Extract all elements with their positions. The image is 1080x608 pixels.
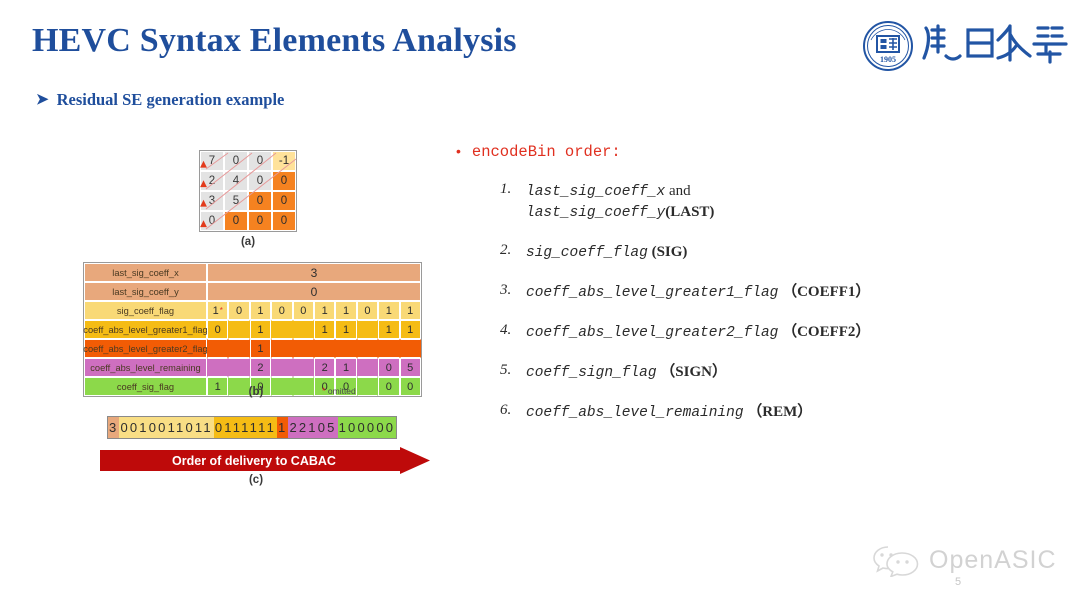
table-cell: 1 <box>250 339 271 358</box>
table-cell: 0 <box>207 320 228 339</box>
list-item: 1.last_sig_coeff_x andlast_sig_coeff_y(L… <box>500 181 1056 223</box>
matrix-cell: 0 <box>272 171 296 191</box>
syntax-element-name: coeff_abs_level_remaining <box>526 405 744 421</box>
matrix-row: 2400 <box>200 171 296 191</box>
bitstream-segment: 3 <box>108 417 119 438</box>
table-cell <box>293 339 314 358</box>
table-row: coeff_abs_level_remaining22105 <box>84 358 421 377</box>
table-row-cells: 0 <box>207 282 421 301</box>
list-item-number: 4. <box>500 322 513 343</box>
arrow-bullet-icon: ➤ <box>36 93 49 108</box>
bitstream-segment: 22105 <box>288 417 337 438</box>
table-row-cells: 3 <box>207 263 421 282</box>
syntax-element-name: （SIGN） <box>657 364 727 380</box>
matrix-cell: 4 <box>224 171 248 191</box>
fudan-seal-icon: 1905 <box>862 20 914 72</box>
list-item-text: sig_coeff_flag (SIG) <box>526 242 687 263</box>
cabac-arrow-label: Order of delivery to CABAC <box>100 447 430 474</box>
table-cell: 0 <box>271 301 292 320</box>
syntax-element-name: sig_coeff_flag <box>526 245 648 261</box>
table-span-cell: 3 <box>207 263 421 282</box>
table-cell <box>228 358 249 377</box>
matrix-row: 3500 <box>200 191 296 211</box>
table-cell: 2 <box>314 358 335 377</box>
matrix-cell: 0 <box>224 151 248 171</box>
table-row: coeff_abs_level_greater2_flag1 <box>84 339 421 358</box>
syntax-element-name: coeff_sign_flag <box>526 365 657 381</box>
table-cell <box>335 339 356 358</box>
list-item-number: 6. <box>500 402 513 423</box>
omitted-star-marker: * <box>220 306 223 315</box>
table-cell <box>271 320 292 339</box>
matrix-cell: 0 <box>272 191 296 211</box>
syntax-element-name: （REM） <box>744 404 813 420</box>
table-row-cells: 011111 <box>207 320 421 339</box>
table-cell: 1 <box>400 301 421 320</box>
slide: HEVC Syntax Elements Analysis ➤ Residual… <box>0 0 1080 608</box>
syntax-element-name: （COEFF1） <box>778 284 870 300</box>
matrix-caption: (a) <box>199 236 297 248</box>
table-row-label: last_sig_coeff_x <box>84 263 207 282</box>
list-item-number: 2. <box>500 242 513 263</box>
table-span-cell: 0 <box>207 282 421 301</box>
bitstream-strip: 300100110110111111122105100000 <box>107 416 397 439</box>
matrix-cell: 0 <box>224 211 248 231</box>
table-cell <box>228 339 249 358</box>
omitted-note: * omitted <box>322 386 356 396</box>
list-item-text: coeff_sign_flag （SIGN） <box>526 362 727 383</box>
openasic-logo: OpenASIC <box>872 543 1057 577</box>
list-item-text: coeff_abs_level_greater1_flag （COEFF1） <box>526 282 870 303</box>
table-cell <box>207 358 228 377</box>
table-cell: 1 <box>335 301 356 320</box>
table-cell <box>228 320 249 339</box>
list-item-text: last_sig_coeff_x andlast_sig_coeff_y(LAS… <box>526 181 714 223</box>
syntax-element-name: coeff_abs_level_greater1_flag <box>526 285 778 301</box>
matrix-cell: 0 <box>248 211 272 231</box>
table-row: last_sig_coeff_x3 <box>84 263 421 282</box>
bitstream-segment: 0010011011 <box>119 417 213 438</box>
table-cell <box>314 339 335 358</box>
table-cell: 0 <box>378 358 399 377</box>
table-caption: (b) <box>83 386 429 398</box>
matrix-row: 700-1 <box>200 151 296 171</box>
table-cell <box>271 358 292 377</box>
table-cell <box>357 339 378 358</box>
list-item: 4.coeff_abs_level_greater2_flag （COEFF2） <box>500 322 1056 343</box>
table-cell <box>293 358 314 377</box>
coefficient-matrix-block: 700-1240035000000 (a) <box>199 150 297 248</box>
table-cell: 1 <box>250 301 271 320</box>
matrix-cell: -1 <box>272 151 296 171</box>
table-row-label: sig_coeff_flag <box>84 301 207 320</box>
table-row-label: last_sig_coeff_y <box>84 282 207 301</box>
syntax-element-name: (SIG) <box>648 244 688 260</box>
table-cell <box>207 339 228 358</box>
table-cell: 1 <box>400 320 421 339</box>
fudan-wordmark-icon <box>920 16 1070 72</box>
section-subheading-label: Residual SE generation example <box>57 90 285 110</box>
syntax-element-name: last_sig_coeff_y <box>526 205 665 221</box>
syntax-element-name: (LAST) <box>665 204 714 220</box>
matrix-cell: 0 <box>272 211 296 231</box>
scan-order-arrowheads-icon <box>199 151 209 231</box>
list-item-text: coeff_abs_level_greater2_flag （COEFF2） <box>526 322 870 343</box>
syntax-element-name: （COEFF2） <box>778 324 870 340</box>
bitstream-segment: 1 <box>277 417 288 438</box>
syntax-element-name: coeff_abs_level_greater2_flag <box>526 325 778 341</box>
encodebin-order-panel: • encodeBin order: 1.last_sig_coeff_x an… <box>456 143 1056 442</box>
encodebin-bullet: • encodeBin order: <box>456 143 1056 161</box>
fudan-university-logo: 1905 <box>862 18 1070 74</box>
list-item: 5.coeff_sign_flag （SIGN） <box>500 362 1056 383</box>
table-cell <box>357 320 378 339</box>
table-row-label: coeff_abs_level_remaining <box>84 358 207 377</box>
matrix-cell: 0 <box>248 171 272 191</box>
table-cell: 1 <box>250 320 271 339</box>
table-row-cells: 1 <box>207 339 421 358</box>
table-cell: 1* <box>207 301 228 320</box>
table-cell <box>293 320 314 339</box>
bullet-dot-icon: • <box>456 144 461 158</box>
list-item-text: coeff_abs_level_remaining （REM） <box>526 402 812 423</box>
openasic-wordmark: OpenASIC <box>929 546 1057 575</box>
page-title: HEVC Syntax Elements Analysis <box>32 22 517 60</box>
table-cell: 1 <box>314 301 335 320</box>
matrix-cell: 5 <box>224 191 248 211</box>
list-item-number: 5. <box>500 362 513 383</box>
bitstream-segment: 0111111 <box>214 417 277 438</box>
syntax-element-name: and <box>665 183 690 199</box>
syntax-element-table: last_sig_coeff_x3last_sig_coeff_y0sig_co… <box>83 262 422 397</box>
bitstream-segment: 100000 <box>338 417 397 438</box>
table-cell <box>357 358 378 377</box>
encodebin-order-list: 1.last_sig_coeff_x andlast_sig_coeff_y(L… <box>456 181 1056 423</box>
table-cell: 0 <box>293 301 314 320</box>
syntax-element-name: last_sig_coeff_x <box>526 184 665 200</box>
omitted-label: omitted <box>328 386 356 396</box>
bitstream-caption: (c) <box>83 474 429 486</box>
table-cell: 0 <box>357 301 378 320</box>
table-cell: 1 <box>335 320 356 339</box>
table-cell: 1 <box>378 320 399 339</box>
table-row-label: coeff_abs_level_greater1_flag <box>84 320 207 339</box>
coefficient-matrix: 700-1240035000000 <box>199 150 297 232</box>
wechat-bubbles-icon <box>872 543 920 577</box>
table-row-label: coeff_abs_level_greater2_flag <box>84 339 207 358</box>
matrix-cell: 0 <box>248 151 272 171</box>
table-cell: 1 <box>314 320 335 339</box>
list-item-number: 3. <box>500 282 513 303</box>
list-item: 2.sig_coeff_flag (SIG) <box>500 242 1056 263</box>
table-cell: 5 <box>400 358 421 377</box>
table-row: last_sig_coeff_y0 <box>84 282 421 301</box>
list-item: 6.coeff_abs_level_remaining （REM） <box>500 402 1056 423</box>
table-cell: 1 <box>335 358 356 377</box>
omitted-star: * <box>322 386 326 396</box>
table-row: coeff_abs_level_greater1_flag011111 <box>84 320 421 339</box>
table-row-cells: 22105 <box>207 358 421 377</box>
table-row: sig_coeff_flag1*010011011 <box>84 301 421 320</box>
list-item: 3.coeff_abs_level_greater1_flag （COEFF1） <box>500 282 1056 303</box>
table-cell: 0 <box>228 301 249 320</box>
svg-text:1905: 1905 <box>880 55 896 64</box>
matrix-cell: 0 <box>248 191 272 211</box>
table-cell <box>400 339 421 358</box>
table-row-cells: 1*010011011 <box>207 301 421 320</box>
section-subheading: ➤ Residual SE generation example <box>36 90 284 110</box>
table-cell <box>271 339 292 358</box>
table-cell <box>378 339 399 358</box>
list-item-number: 1. <box>500 181 513 223</box>
cabac-order-arrow: Order of delivery to CABAC <box>100 447 430 474</box>
table-cell: 1 <box>378 301 399 320</box>
matrix-row: 0000 <box>200 211 296 231</box>
page-number: 5 <box>955 576 961 588</box>
encodebin-order-label: encodeBin order: <box>472 143 621 161</box>
table-cell: 2 <box>250 358 271 377</box>
